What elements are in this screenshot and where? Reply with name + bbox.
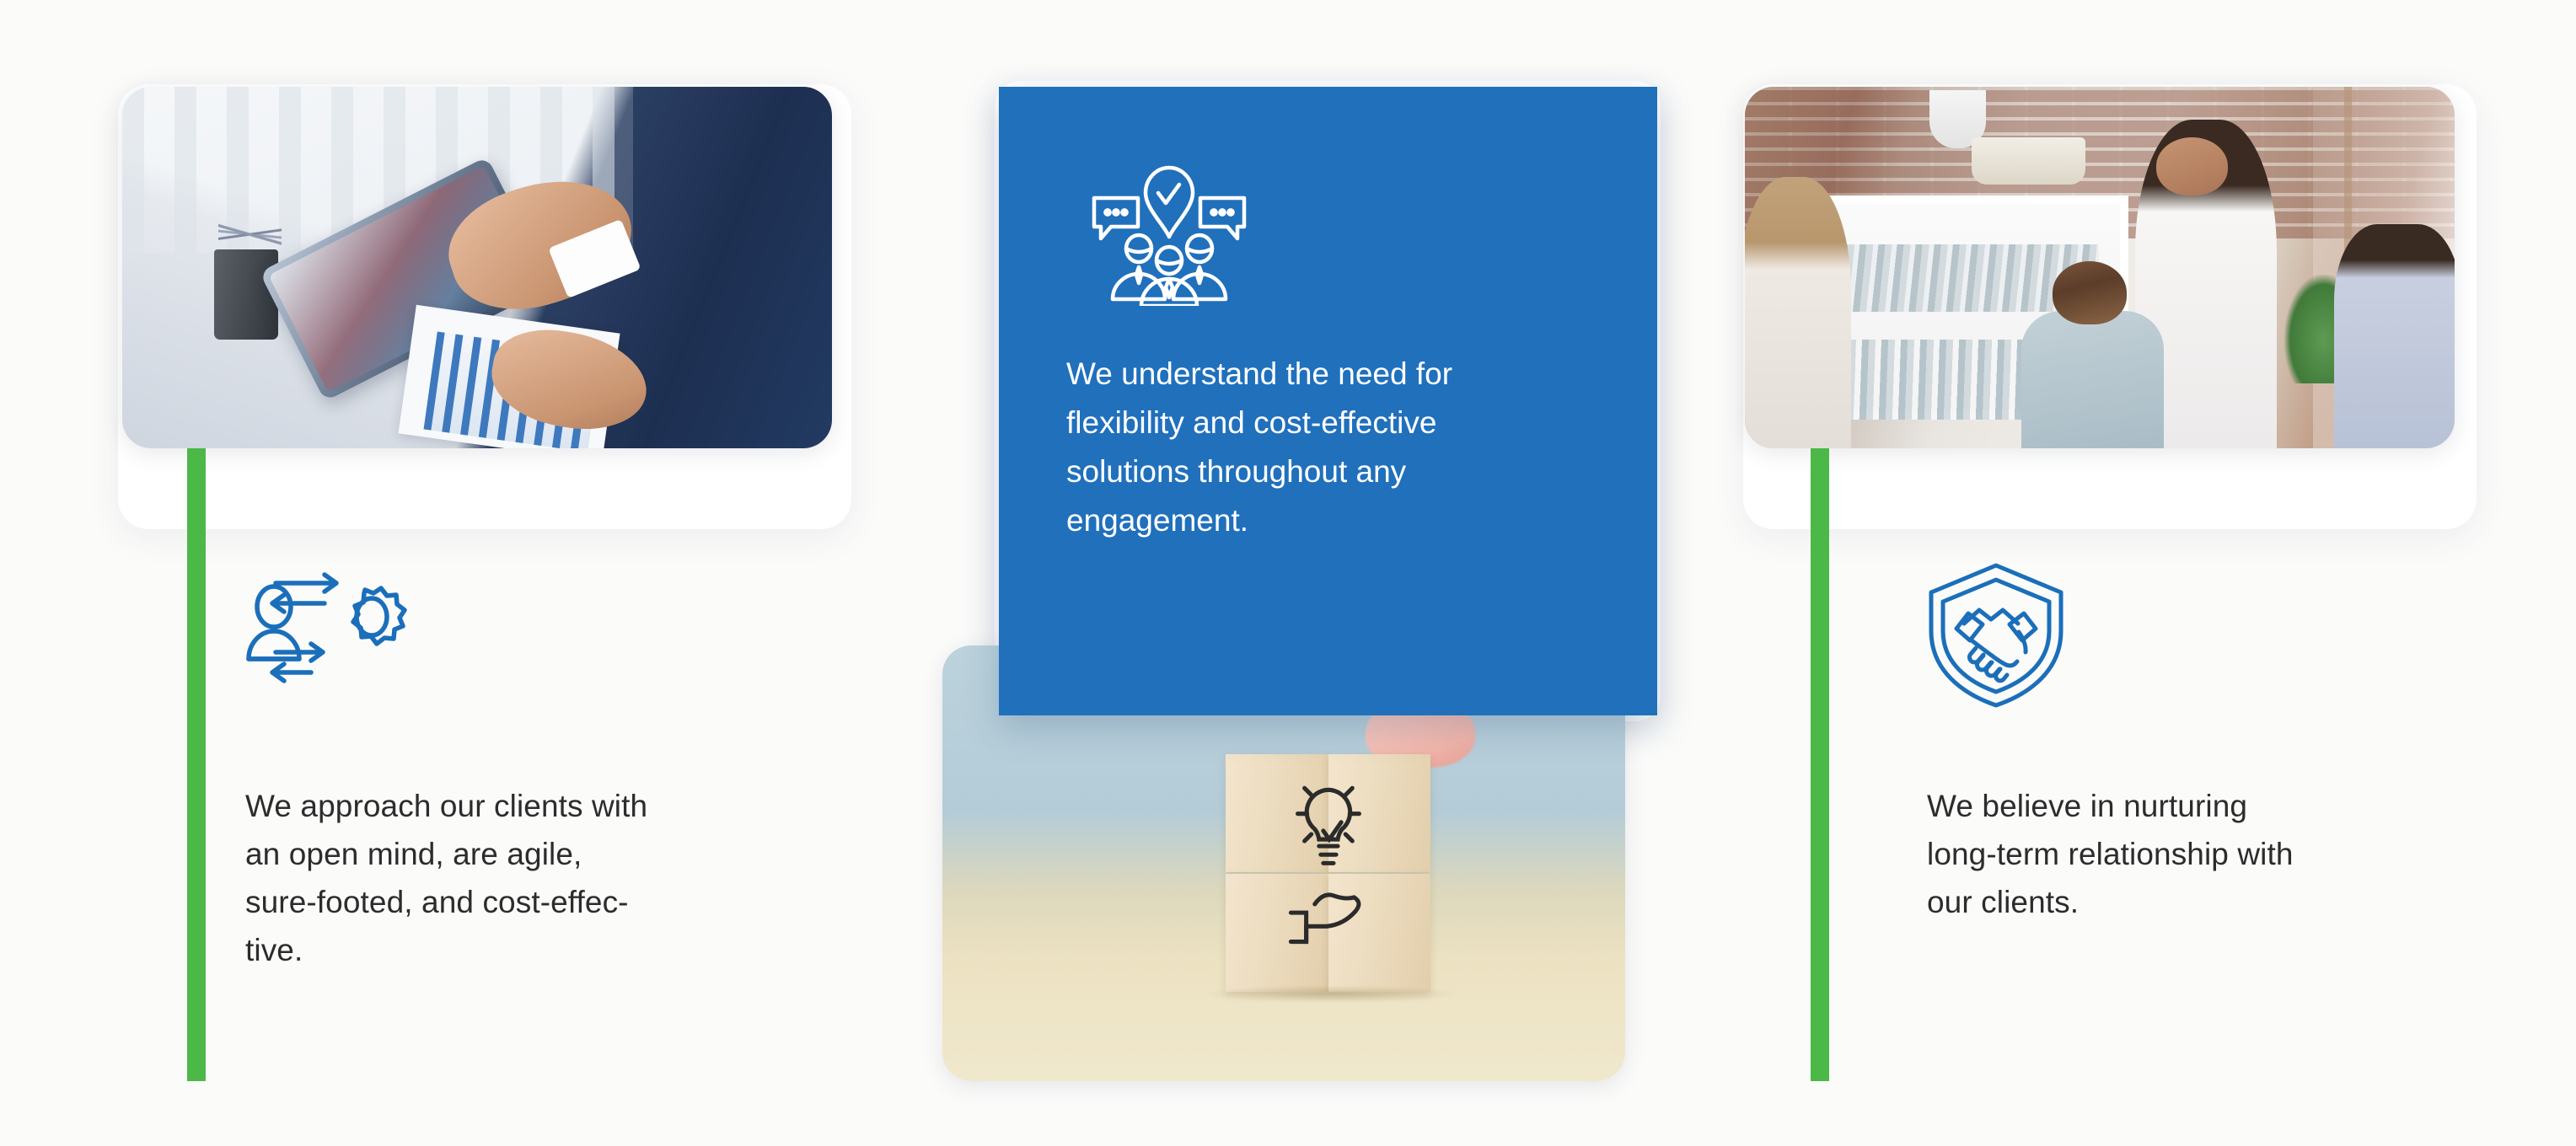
team-discussion-office-photo (1745, 87, 2455, 448)
lightbulb-in-hand-glyph (1264, 768, 1393, 972)
values-cards-section: We approach our clients with an open min… (0, 0, 2576, 1146)
pens-detail (218, 206, 282, 260)
card-relationship-text: We believe in nurturing long-term relati… (1927, 782, 2483, 926)
cube-shadow-detail (1202, 985, 1462, 1003)
user-gear-exchange-icon (244, 565, 412, 699)
left-woman-detail (1745, 177, 1851, 448)
standing-woman-face-detail (2156, 137, 2227, 195)
card-approach-text: We approach our clients with an open min… (245, 782, 785, 974)
pen-cup-detail (214, 249, 278, 340)
team-approval-speech-icon (1089, 163, 1249, 306)
woven-basket-detail (1972, 137, 2085, 185)
flexibility-blue-panel: We understand the need for flexibility a… (999, 87, 1657, 715)
seated-man-detail (2021, 311, 2163, 448)
card-approach-green-accent-bar (187, 448, 206, 1081)
card-relationship-green-accent-bar (1811, 448, 1829, 1081)
card-flexibility-text: We understand the need for flexibility a… (1066, 350, 1606, 545)
shield-handshake-icon (1924, 561, 2068, 710)
businessmen-reviewing-tablet-photo (122, 87, 832, 448)
right-man-detail (2334, 224, 2455, 448)
